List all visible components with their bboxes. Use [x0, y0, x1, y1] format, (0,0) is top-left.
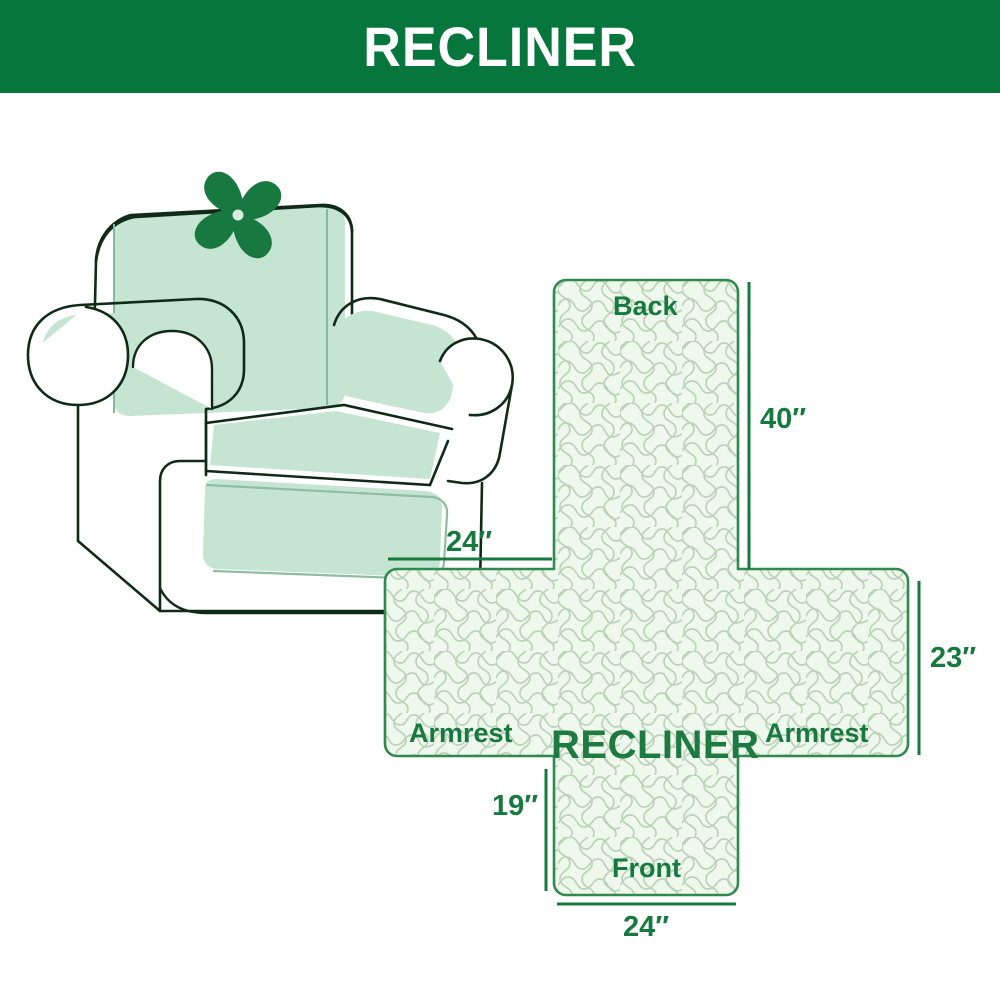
header-banner: RECLINER: [0, 0, 1000, 93]
product-dimension-infographic: RECLINER: [0, 0, 1000, 1000]
label-front: Front: [612, 855, 681, 882]
page-title: RECLINER: [363, 19, 637, 75]
label-armrest-right: Armrest: [765, 720, 869, 747]
dim-back-width: 24″: [446, 528, 492, 557]
dim-front-height: 19″: [492, 792, 538, 821]
dim-back-height: 40″: [760, 405, 806, 434]
cover-label-layer: Back RECLINER Armrest Armrest Front 40″ …: [0, 93, 1000, 1000]
dim-front-width: 24″: [623, 913, 669, 942]
label-armrest-left: Armrest: [409, 720, 513, 747]
dim-seat-depth: 23″: [930, 644, 976, 673]
label-center-recliner: RECLINER: [551, 725, 759, 765]
diagram-stage: Back RECLINER Armrest Armrest Front 40″ …: [0, 93, 1000, 1000]
label-back: Back: [613, 293, 678, 320]
